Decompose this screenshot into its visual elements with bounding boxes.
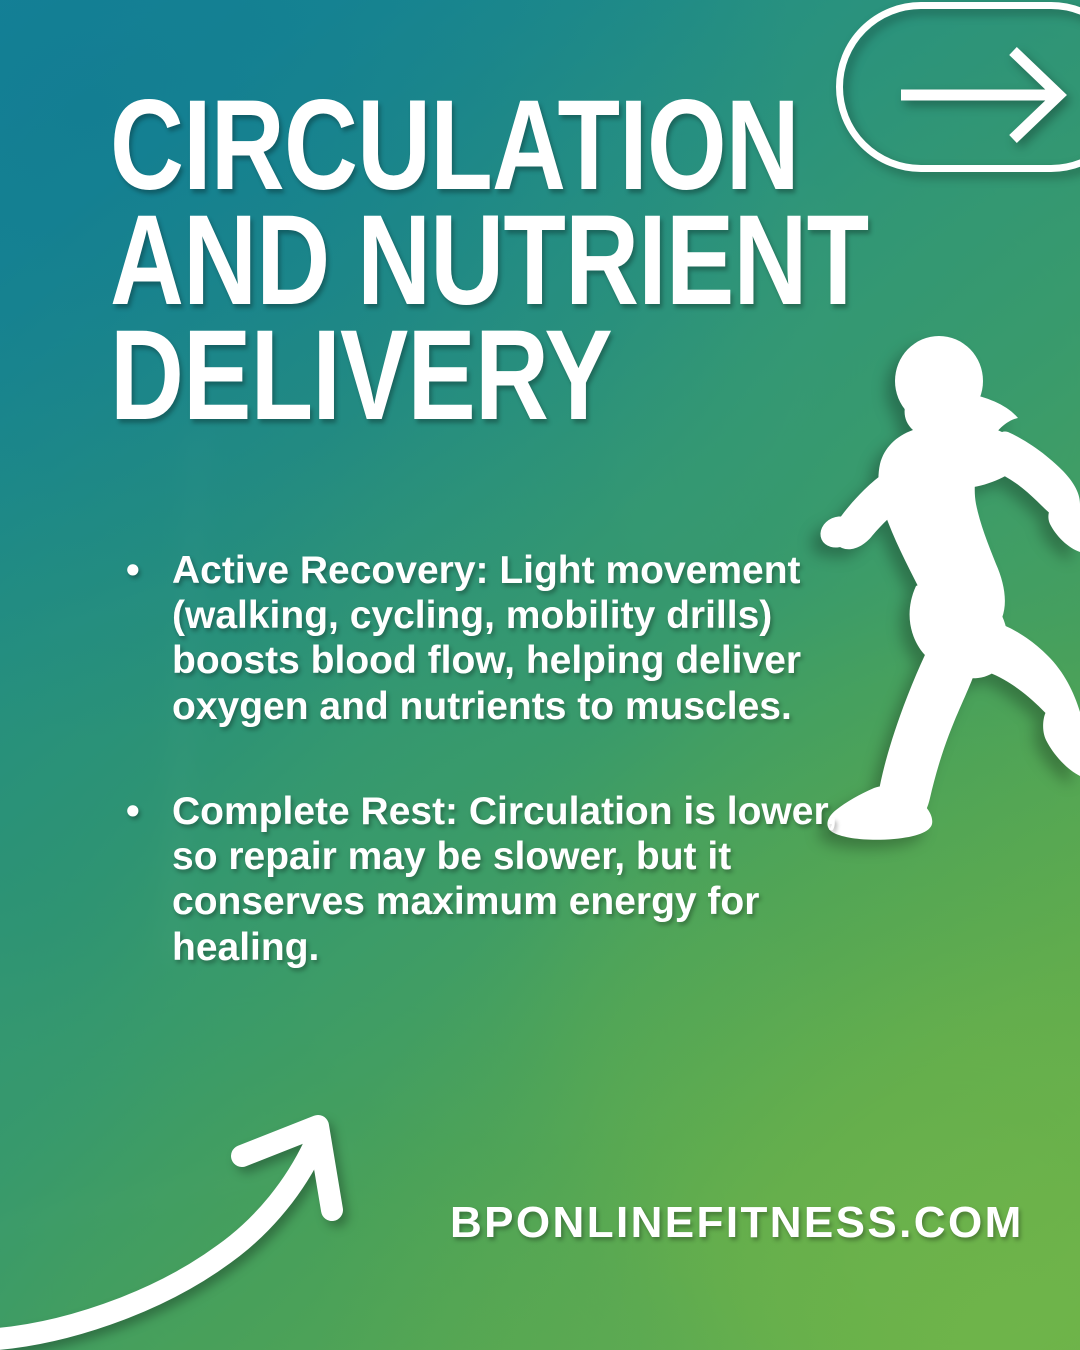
list-item: • Complete Rest: Circulation is lower, s… bbox=[126, 789, 866, 970]
social-post-card: CIRCULATION AND NUTRIENT DELIVERY bbox=[0, 0, 1080, 1350]
website-url: BPONLINEFITNESS.COM bbox=[450, 1198, 1024, 1248]
bullet-marker-icon: • bbox=[126, 789, 172, 970]
list-item: • Active Recovery: Light movement (walki… bbox=[126, 548, 866, 729]
list-item-text: Complete Rest: Circulation is lower, so … bbox=[172, 789, 866, 970]
list-item-text: Active Recovery: Light movement (walking… bbox=[172, 548, 866, 729]
headline-line-2: AND NUTRIENT bbox=[110, 203, 718, 318]
bullet-marker-icon: • bbox=[126, 548, 172, 729]
next-slide-button[interactable] bbox=[836, 2, 1080, 172]
curved-arrow-up-icon bbox=[0, 1090, 420, 1350]
page-title: CIRCULATION AND NUTRIENT DELIVERY bbox=[110, 88, 718, 434]
headline-line-3: DELIVERY bbox=[110, 318, 718, 433]
arrow-right-icon bbox=[901, 47, 1080, 143]
bullet-list: • Active Recovery: Light movement (walki… bbox=[126, 548, 866, 970]
headline-line-1: CIRCULATION bbox=[110, 88, 718, 203]
